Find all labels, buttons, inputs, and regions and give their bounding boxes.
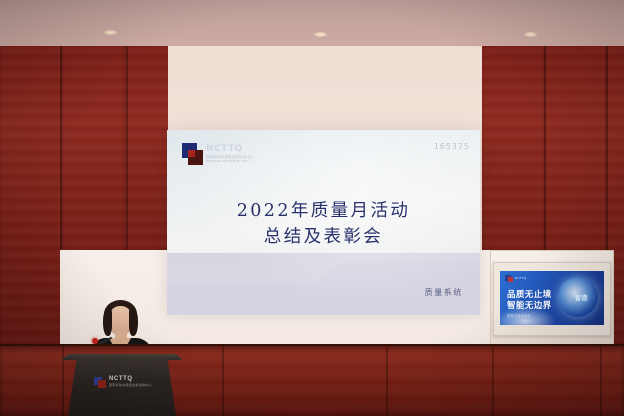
poster-logo-red-square-icon [508,277,513,282]
projection-screen: NCTTQ 国家机动车质量监督检验中心 NATIONAL CENTER OF T… [167,130,480,315]
wainscot-seam [492,346,494,416]
ceiling [0,0,624,46]
wainscot-seam [62,346,64,416]
slide-logo-wordmark: NCTTQ [206,144,243,154]
downlight-left-icon [104,30,117,35]
projector-corner-code: 165375 [434,142,470,151]
slide-logo-subtitle-en: NATIONAL CENTER OF TEST [206,159,249,163]
poster-badge: 智造 [575,293,588,302]
presentation-room-photo: NCTTQ 国家机动车质量监督检验中心 NATIONAL CENTER OF T… [0,0,624,416]
wall-poster: NCTTQ 品质无止境 智能无边界 质量月活动宣传 智造 [500,271,604,325]
podium-logo: NCTTQ 国家机动车质量监督检验中心 [94,376,154,390]
slide-title-line2: 总结及表彰会 [167,224,480,250]
podium-logo-subtitle: 国家机动车质量监督检验中心 [109,383,152,387]
wall-poster-frame: NCTTQ 品质无止境 智能无边界 质量月活动宣传 智造 [493,262,611,336]
poster-headline-1: 品质无止境 [507,289,552,299]
poster-headline-2: 智能无边界 [507,300,552,310]
wainscot-seam [386,346,388,416]
slide-title-line1: 2022年质量月活动 [237,201,411,221]
wainscot-seam [222,346,224,416]
poster-logo-wordmark: NCTTQ [515,276,526,280]
speaker-hair-right [129,310,138,336]
speaker-hair-left [103,310,112,336]
slide-logo: NCTTQ 国家机动车质量监督检验中心 NATIONAL CENTER OF T… [182,143,240,165]
poster-logo: NCTTQ [505,275,527,282]
poster-small-text: 质量月活动宣传 [507,313,531,318]
slide-lower-band [167,253,480,315]
podium-logo-red-square-icon [98,380,106,388]
downlight-right-icon [524,32,537,37]
slide-footer-text: 质量系统 [425,287,463,298]
podium: NCTTQ 国家机动车质量监督检验中心 [68,358,176,416]
wainscot-seam [600,346,602,416]
downlight-center-icon [314,32,327,37]
podium-logo-wordmark: NCTTQ [109,376,133,382]
logo-red-square-icon [188,150,195,157]
slide-title: 2022年质量月活动 总结及表彰会 [167,198,480,250]
